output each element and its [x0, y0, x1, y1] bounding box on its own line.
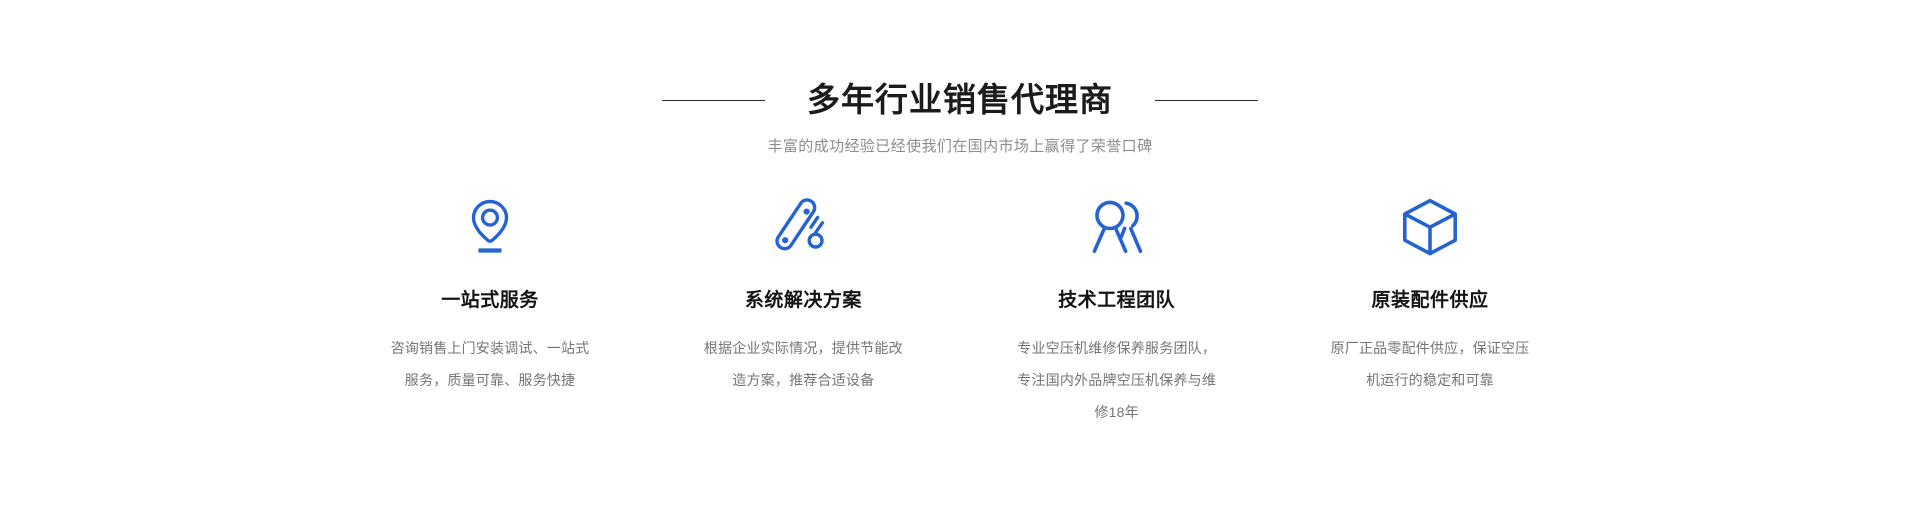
feature-list: 一站式服务 咨询销售上门安装调试、一站式服务，质量可靠、服务快捷 系统解决方案 … [360, 196, 1560, 428]
page-title: 多年行业销售代理商 [807, 78, 1113, 122]
feature-title: 原装配件供应 [1300, 288, 1560, 314]
feature-title: 一站式服务 [360, 288, 620, 314]
title-row: 多年行业销售代理商 [0, 78, 1920, 122]
people-team-icon [987, 196, 1247, 258]
feature-item-engineering-team[interactable]: 技术工程团队 专业空压机维修保养服务团队，专注国内外品牌空压机保养与维修18年 [987, 196, 1247, 428]
feature-item-system-solution[interactable]: 系统解决方案 根据企业实际情况，提供节能改造方案，推荐合适设备 [673, 196, 933, 396]
section-subtitle: 丰富的成功经验已经使我们在国内市场上赢得了荣誉口碑 [0, 136, 1920, 158]
feature-title: 技术工程团队 [987, 288, 1247, 314]
feature-description: 根据企业实际情况，提供节能改造方案，推荐合适设备 [699, 332, 907, 396]
section-header: 多年行业销售代理商 丰富的成功经验已经使我们在国内市场上赢得了荣誉口碑 [0, 78, 1920, 158]
feature-description: 原厂正品零配件供应，保证空压机运行的稳定和可靠 [1326, 332, 1534, 396]
feature-item-parts-supply[interactable]: 原装配件供应 原厂正品零配件供应，保证空压机运行的稳定和可靠 [1300, 196, 1560, 396]
feature-description: 专业空压机维修保养服务团队，专注国内外品牌空压机保养与维修18年 [1013, 332, 1221, 428]
cube-box-icon [1300, 196, 1560, 258]
feature-highlights-section: 多年行业销售代理商 丰富的成功经验已经使我们在国内市场上赢得了荣誉口碑 一站式服… [0, 0, 1920, 511]
location-pin-icon [360, 196, 620, 258]
feature-description: 咨询销售上门安装调试、一站式服务，质量可靠、服务快捷 [386, 332, 594, 396]
title-rule-right-icon [1155, 100, 1258, 101]
wrench-tool-icon [673, 196, 933, 258]
feature-item-one-stop-service[interactable]: 一站式服务 咨询销售上门安装调试、一站式服务，质量可靠、服务快捷 [360, 196, 620, 396]
title-rule-left-icon [662, 100, 765, 101]
feature-title: 系统解决方案 [673, 288, 933, 314]
